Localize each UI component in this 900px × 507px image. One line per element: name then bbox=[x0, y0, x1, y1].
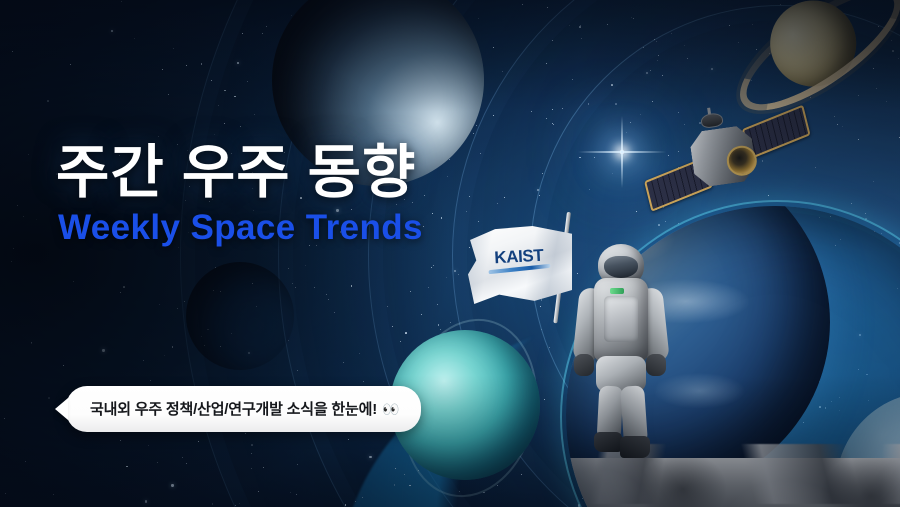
page-subtitle: Weekly Space Trends bbox=[58, 209, 423, 248]
caption-text: 국내외 우주 정책/산업/연구개발 소식을 한눈에! bbox=[90, 398, 377, 419]
page-title: 주간 우주 동향 bbox=[56, 142, 423, 203]
caption-bubble: 국내외 우주 정책/산업/연구개발 소식을 한눈에! 👀 bbox=[66, 386, 421, 432]
eyes-icon: 👀 bbox=[382, 402, 399, 416]
title-block: 주간 우주 동향 Weekly Space Trends bbox=[56, 142, 423, 248]
space-banner: KAIST 주간 우주 동향 Weekly Space Trends 국내외 우… bbox=[0, 0, 900, 507]
